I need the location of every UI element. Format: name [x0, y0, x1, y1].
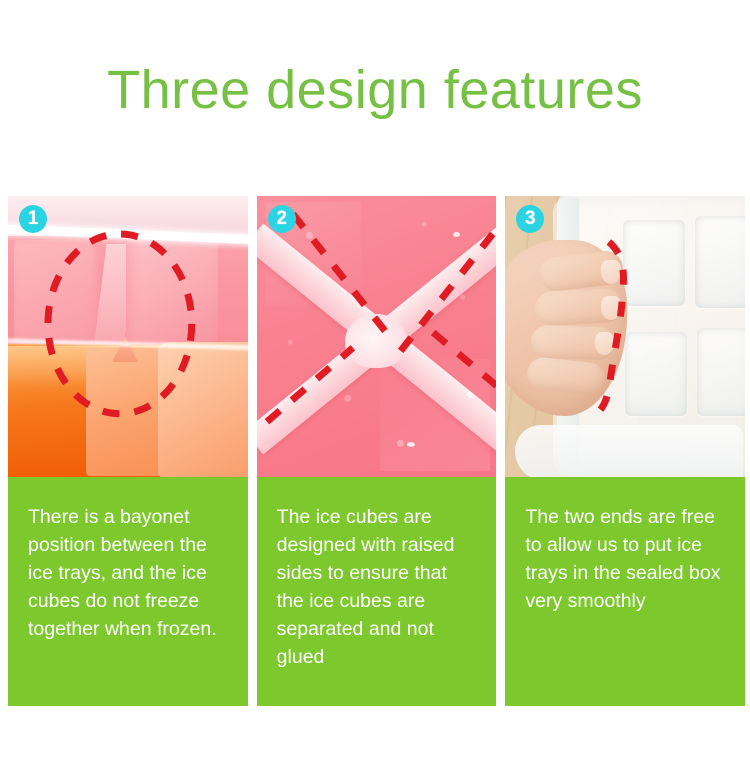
orange-ice-cube-right	[158, 342, 248, 477]
page-title: Three design features	[0, 58, 750, 122]
feature-photo-3: 3	[505, 196, 745, 477]
box-compartment	[695, 216, 745, 308]
feature-panel-1: 1 There is a bayonet position between th…	[8, 196, 248, 706]
box-compartment	[697, 328, 745, 416]
water-droplet	[407, 442, 415, 447]
feature-panels: 1 There is a bayonet position between th…	[8, 196, 745, 706]
pink-ice-cube-right	[126, 238, 218, 356]
frost-droplets	[257, 196, 497, 477]
box-compartment	[623, 220, 685, 306]
feature-photo-2: 2	[257, 196, 497, 477]
feature-panel-3: 3 The two ends are free to allow us to p…	[505, 196, 745, 706]
feature-caption-2: The ice cubes are designed with raised s…	[257, 477, 497, 706]
water-droplet	[453, 232, 460, 237]
water-droplet	[467, 392, 473, 398]
pink-ice-cube-left	[14, 240, 100, 348]
feature-caption-3: The two ends are free to allow us to put…	[505, 477, 745, 706]
box-compartment	[625, 332, 687, 416]
box-base-rim	[515, 425, 743, 477]
feature-caption-1: There is a bayonet position between the …	[8, 477, 248, 706]
feature-panel-2: 2 The ice cubes are designed with raised…	[257, 196, 497, 706]
feature-photo-1: 1	[8, 196, 248, 477]
step-badge-2: 2	[268, 205, 296, 233]
step-badge-1: 1	[19, 205, 47, 233]
